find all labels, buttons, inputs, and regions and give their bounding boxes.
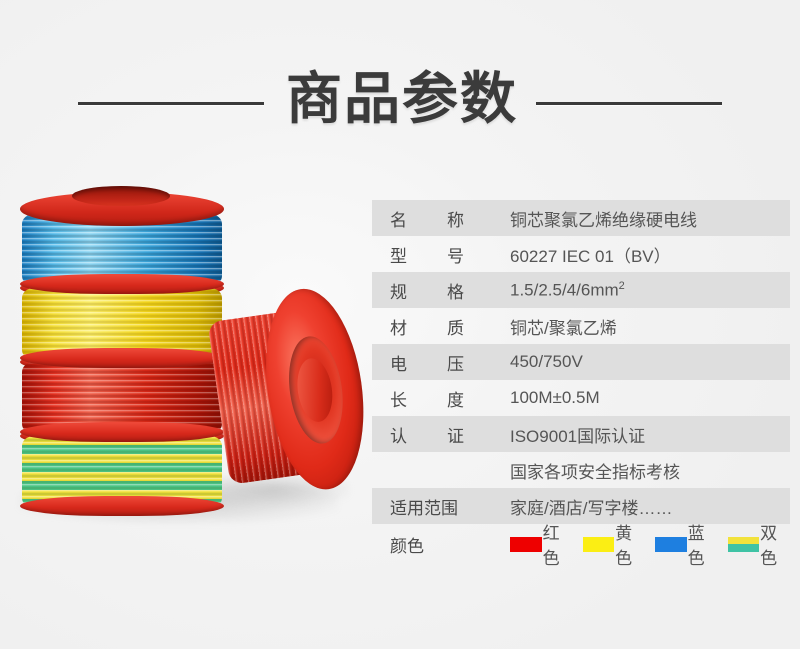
color-options: 红色 黄色 蓝色 双色 [510, 519, 790, 569]
spool-rim-bottom [20, 274, 224, 294]
table-row: 材 质 铜芯/聚氯乙烯 [372, 308, 790, 344]
spec-value: 家庭/酒店/写字楼…… [510, 494, 672, 519]
spool-rim-bottom [20, 348, 224, 368]
title-rule-left [78, 102, 264, 105]
color-swatch-blue [655, 537, 687, 552]
spool-rim-bottom [20, 496, 224, 516]
spec-value: 铜芯/聚氯乙烯 [510, 314, 617, 339]
spec-label: 长 度 [390, 386, 510, 411]
table-row: 电 压 450/750V [372, 344, 790, 380]
spec-label: 型 号 [390, 242, 510, 267]
spec-value: 60227 IEC 01（BV） [510, 242, 671, 267]
spec-label: 名 称 [390, 206, 510, 231]
color-option-yellow[interactable]: 黄色 [583, 519, 646, 569]
color-swatch-dual [728, 537, 760, 552]
table-row: 名 称 铜芯聚氯乙烯绝缘硬电线 [372, 200, 790, 236]
color-swatch-red [510, 537, 542, 552]
page-title: 商品参数 [286, 72, 518, 128]
color-option-dual[interactable]: 双色 [728, 519, 791, 569]
product-spec-page: 商品参数 [0, 0, 800, 649]
spec-value: 铜芯聚氯乙烯绝缘硬电线 [510, 206, 697, 231]
title-rule-right [536, 102, 722, 105]
color-option-label: 双色 [760, 519, 790, 569]
spec-value: ISO9001国际认证 [510, 422, 645, 447]
spec-value-text: 1.5/2.5/4/6mm [510, 280, 619, 299]
table-row: 型 号 60227 IEC 01（BV） [372, 236, 790, 272]
spec-label: 材 质 [390, 314, 510, 339]
color-swatch-yellow [583, 537, 615, 552]
spec-label: 适用范围 [390, 494, 510, 519]
spool-rim-bottom [20, 422, 224, 442]
table-row: 认 证 ISO9001国际认证 [372, 416, 790, 452]
side-spool-hub [283, 333, 350, 447]
page-header: 商品参数 [0, 54, 800, 146]
spec-label: 规 格 [390, 278, 510, 303]
color-row: 颜色 红色 黄色 蓝色 双色 [372, 524, 790, 564]
spool-stack [22, 194, 222, 506]
spec-value: 100M±0.5M [510, 388, 600, 408]
color-option-red[interactable]: 红色 [510, 519, 573, 569]
spool-side-red [199, 283, 376, 504]
spool-cap-hole [72, 186, 170, 206]
table-row: 长 度 100M±0.5M [372, 380, 790, 416]
spool-cap [20, 192, 224, 226]
color-option-label: 黄色 [615, 519, 645, 569]
color-option-label: 红色 [543, 519, 573, 569]
spec-table: 名 称 铜芯聚氯乙烯绝缘硬电线 型 号 60227 IEC 01（BV） 规 格… [372, 200, 790, 564]
spec-value: 1.5/2.5/4/6mm2 [510, 280, 625, 301]
spec-label: 认 证 [390, 422, 510, 447]
spec-label: 电 压 [390, 350, 510, 375]
color-label: 颜色 [390, 532, 510, 557]
spool-blue [22, 204, 222, 290]
product-photo [0, 186, 360, 531]
side-spool-core [294, 356, 337, 424]
color-option-label: 蓝色 [688, 519, 718, 569]
table-row-continuation: 国家各项安全指标考核 [372, 452, 790, 488]
color-option-blue[interactable]: 蓝色 [655, 519, 718, 569]
table-row: 规 格 1.5/2.5/4/6mm2 [372, 272, 790, 308]
spec-value: 450/750V [510, 352, 583, 372]
spec-value-superscript: 2 [619, 280, 625, 292]
spec-value: 国家各项安全指标考核 [510, 458, 680, 483]
